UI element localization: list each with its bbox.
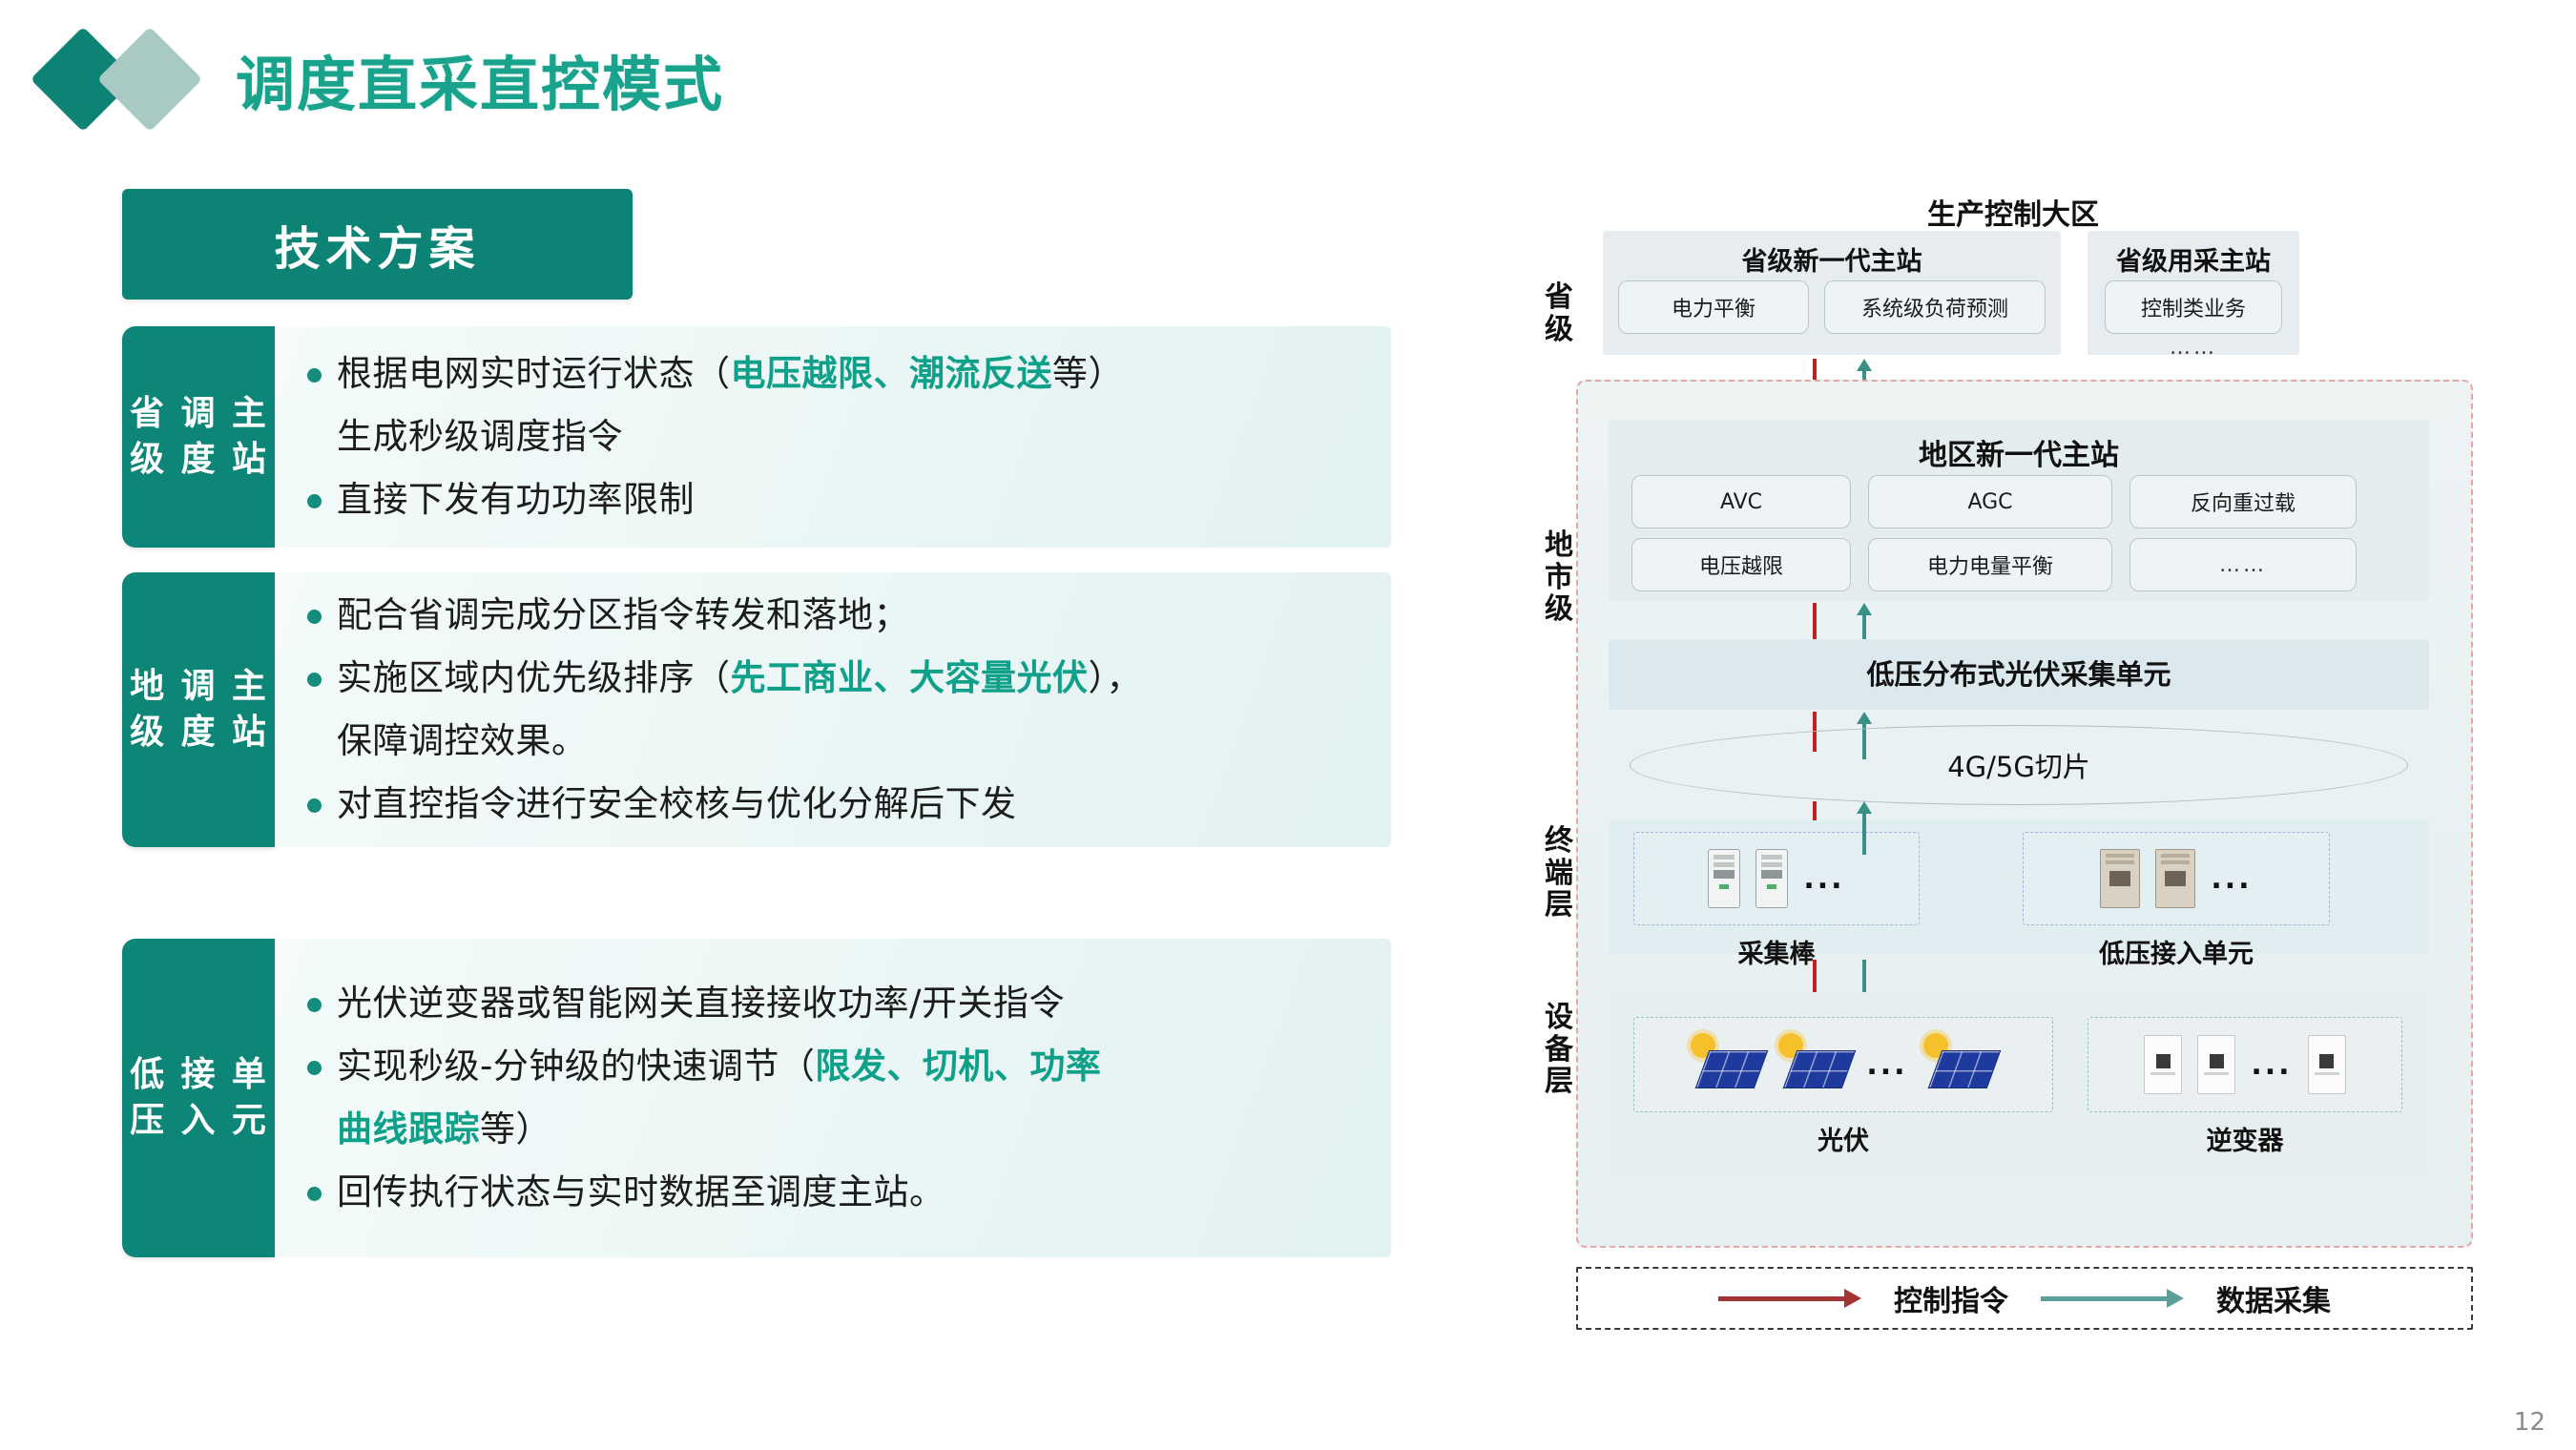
block-body-lv-unit: 光伏逆变器或智能网关直接接收功率/开关指令 实现秒级-分钟级的快速调节（限发、切… xyxy=(275,939,1391,1257)
legend-control-label: 控制指令 xyxy=(1894,1277,2008,1319)
bullet-text: 回传执行状态与实时数据至调度主站。 xyxy=(337,1164,1362,1221)
bullet-text-highlight: 曲线跟踪 xyxy=(337,1108,480,1150)
bullet-text-part: 等） xyxy=(480,1108,551,1150)
collector-stick-icon xyxy=(1708,849,1740,908)
chip-energy-balance[interactable]: 电力电量平衡 xyxy=(1868,538,2112,591)
block-label-line: 低压 xyxy=(122,1052,173,1143)
bullet-text-highlight: 电压越限、潮流反送 xyxy=(731,353,1053,394)
bullet-text: 实施区域内优先级排序（先工商业、大容量光伏）， xyxy=(337,650,1362,707)
solar-panel-icon xyxy=(1778,1037,1851,1092)
bullet-line: 实现秒级-分钟级的快速调节（限发、切机、功率 xyxy=(307,1038,1362,1095)
bullet-line: 配合省调完成分区指令转发和落地； xyxy=(307,587,1362,644)
layer-label-city: 地市级 xyxy=(1536,529,1582,626)
chip-reverse-overload[interactable]: 反向重过载 xyxy=(2129,475,2357,528)
block-label-line: 接入 xyxy=(173,1052,223,1143)
scheme-badge: 技术方案 xyxy=(122,189,633,300)
bullet-line: 生成秒级调度指令 xyxy=(307,408,1362,466)
block-label-district: 地级 调度 主站 xyxy=(122,572,275,847)
layer-label-province: 省级 xyxy=(1536,281,1582,345)
block-label-line: 省级 xyxy=(122,391,173,482)
diamond-icon xyxy=(38,27,215,132)
block-body-province: 根据电网实时运行状态（电压越限、潮流反送等） 生成秒级调度指令 直接下发有功功率… xyxy=(275,326,1391,548)
terminal-group-lv-access-label: 低压接入单元 xyxy=(2023,933,2330,970)
bullet-text: 实现秒级-分钟级的快速调节（限发、切机、功率 xyxy=(337,1038,1362,1095)
block-body-district: 配合省调完成分区指令转发和落地； 实施区域内优先级排序（先工商业、大容量光伏），… xyxy=(275,572,1391,847)
lv-access-unit-icon xyxy=(2155,849,2195,908)
collector-stick-icon xyxy=(1755,849,1788,908)
inverter-icon xyxy=(2308,1035,2346,1094)
collector-ellipsis: ... xyxy=(1803,862,1844,896)
chip-system-load-forecast[interactable]: 系统级负荷预测 xyxy=(1824,280,2046,334)
device-group-pv: ... xyxy=(1633,1017,2053,1112)
block-label-line: 调度 xyxy=(173,664,223,755)
bullet-text: 保障调控效果。 xyxy=(337,713,1362,770)
chip-power-balance[interactable]: 电力平衡 xyxy=(1618,280,1809,334)
bullet-dot-icon xyxy=(307,1061,322,1075)
bullet-text-part: 等） xyxy=(1052,353,1124,394)
device-group-pv-label: 光伏 xyxy=(1633,1120,2053,1157)
block-label-line: 地级 xyxy=(122,664,173,755)
terminal-group-collector: ... xyxy=(1633,832,1920,925)
content-block-province: 省级 调度 主站 根据电网实时运行状态（电压越限、潮流反送等） 生成秒级调度指令… xyxy=(122,326,1391,548)
lv-pv-collection-unit-title: 低压分布式光伏采集单元 xyxy=(1609,652,2429,693)
bullet-text: 光伏逆变器或智能网关直接接收功率/开关指令 xyxy=(337,975,1362,1032)
bullet-spacer xyxy=(307,1124,322,1138)
province-main-station-title: 省级新一代主站 xyxy=(1603,240,2061,278)
bullet-text-highlight: 先工商业、大容量光伏 xyxy=(731,657,1089,698)
diamond-shape-secondary xyxy=(97,27,202,132)
page-title: 调度直采直控模式 xyxy=(236,36,724,122)
bullet-spacer xyxy=(307,431,322,445)
solar-panel-icon xyxy=(1923,1037,1996,1092)
inverter-ellipsis: ... xyxy=(2251,1048,2292,1082)
lv-access-ellipsis: ... xyxy=(2211,862,2252,896)
bullet-text: 直接下发有功功率限制 xyxy=(337,471,1362,528)
bullet-dot-icon xyxy=(307,368,322,383)
block-label-line: 主站 xyxy=(224,391,275,482)
bullet-text: 曲线跟踪等） xyxy=(337,1101,1362,1158)
block-label-lv-unit: 低压 接入 单元 xyxy=(122,939,275,1257)
page-number: 12 xyxy=(2514,1408,2545,1437)
chip-avc[interactable]: AVC xyxy=(1631,475,1851,528)
content-block-district: 地级 调度 主站 配合省调完成分区指令转发和落地； 实施区域内优先级排序（先工商… xyxy=(122,572,1391,847)
bullet-dot-icon xyxy=(307,494,322,508)
block-label-line: 主站 xyxy=(224,664,275,755)
bullet-text-part: 实施区域内优先级排序（ xyxy=(337,657,731,698)
block-label-province: 省级 调度 主站 xyxy=(122,326,275,548)
diagram-title: 生产控制大区 xyxy=(1813,191,2213,233)
lv-access-unit-icon xyxy=(2100,849,2140,908)
diagram-legend: 控制指令 数据采集 xyxy=(1576,1267,2473,1330)
province-main-station-panel: 省级新一代主站 电力平衡 系统级负荷预测 xyxy=(1603,231,2061,355)
bullet-line: 光伏逆变器或智能网关直接接收功率/开关指令 xyxy=(307,975,1362,1032)
bullet-dot-icon xyxy=(307,998,322,1012)
district-main-station-title: 地区新一代主站 xyxy=(1609,431,2429,473)
device-group-inverter: ... xyxy=(2088,1017,2402,1112)
device-group-inverter-label: 逆变器 xyxy=(2088,1120,2402,1157)
legend-data-label: 数据采集 xyxy=(2216,1277,2331,1319)
slide-title-row: 调度直采直控模式 xyxy=(38,27,724,132)
bullet-line: 曲线跟踪等） xyxy=(307,1101,1362,1158)
legend-control-arrow-icon xyxy=(1718,1295,1861,1302)
province-metering-station-title: 省级用采主站 xyxy=(2088,240,2299,278)
slide-page: 调度直采直控模式 技术方案 省级 调度 主站 根据电网实时运行状态（电压越限、潮… xyxy=(0,0,2576,1450)
bullet-line: 根据电网实时运行状态（电压越限、潮流反送等） xyxy=(307,345,1362,403)
solar-panel-icon xyxy=(1691,1037,1763,1092)
bullet-text-part: ）， xyxy=(1089,657,1143,698)
block-label-line: 单元 xyxy=(224,1052,275,1143)
bullet-line: 实施区域内优先级排序（先工商业、大容量光伏）， xyxy=(307,650,1362,707)
block-label-line: 调度 xyxy=(173,391,223,482)
bullet-spacer xyxy=(307,735,322,750)
chip-control-business[interactable]: 控制类业务 xyxy=(2105,280,2282,334)
province-metering-station-panel: 省级用采主站 控制类业务 …… xyxy=(2088,231,2299,355)
network-slice-ellipse: 4G/5G切片 xyxy=(1630,725,2408,805)
bullet-line: 对直控指令进行安全校核与优化分解后下发 xyxy=(307,776,1362,833)
layer-label-device: 设备层 xyxy=(1536,1002,1582,1098)
bullet-dot-icon xyxy=(307,1187,322,1201)
bullet-text: 根据电网实时运行状态（电压越限、潮流反送等） xyxy=(337,345,1362,403)
terminal-group-lv-access: ... xyxy=(2023,832,2330,925)
pv-ellipsis: ... xyxy=(1866,1048,1907,1082)
bullet-line: 直接下发有功功率限制 xyxy=(307,471,1362,528)
bullet-dot-icon xyxy=(307,798,322,813)
left-panel: 技术方案 省级 调度 主站 根据电网实时运行状态（电压越限、潮流反送等） 生成秒… xyxy=(122,189,1391,1257)
bullet-dot-icon xyxy=(307,610,322,624)
chip-voltage-violation[interactable]: 电压越限 xyxy=(1631,538,1851,591)
bullet-text-highlight: 限发、切机、功率 xyxy=(815,1046,1101,1087)
inverter-icon xyxy=(2144,1035,2182,1094)
bullet-text-part: 实现秒级-分钟级的快速调节（ xyxy=(337,1046,815,1087)
bullet-text: 配合省调完成分区指令转发和落地； xyxy=(337,587,1362,644)
layer-label-terminal: 终端层 xyxy=(1536,825,1582,922)
content-block-lv-unit: 低压 接入 单元 光伏逆变器或智能网关直接接收功率/开关指令 实现秒级-分钟级的… xyxy=(122,939,1391,1257)
architecture-diagram: 生产控制大区 省级 地市级 终端层 设备层 省级新一代主站 电力平衡 系统级负荷… xyxy=(1527,191,2538,1393)
chip-agc[interactable]: AGC xyxy=(1868,475,2112,528)
inverter-icon xyxy=(2197,1035,2235,1094)
bullet-dot-icon xyxy=(307,673,322,687)
terminal-group-collector-label: 采集棒 xyxy=(1633,933,1920,970)
chip-district-ellipsis: …… xyxy=(2129,538,2357,591)
legend-data-arrow-icon xyxy=(2041,1295,2184,1302)
bullet-text: 对直控指令进行安全校核与优化分解后下发 xyxy=(337,776,1362,833)
bullet-line: 回传执行状态与实时数据至调度主站。 xyxy=(307,1164,1362,1221)
bullet-line: 保障调控效果。 xyxy=(307,713,1362,770)
province-metering-ellipsis: …… xyxy=(2088,336,2299,360)
bullet-text-part: 根据电网实时运行状态（ xyxy=(337,353,731,394)
bullet-text: 生成秒级调度指令 xyxy=(337,408,1362,466)
